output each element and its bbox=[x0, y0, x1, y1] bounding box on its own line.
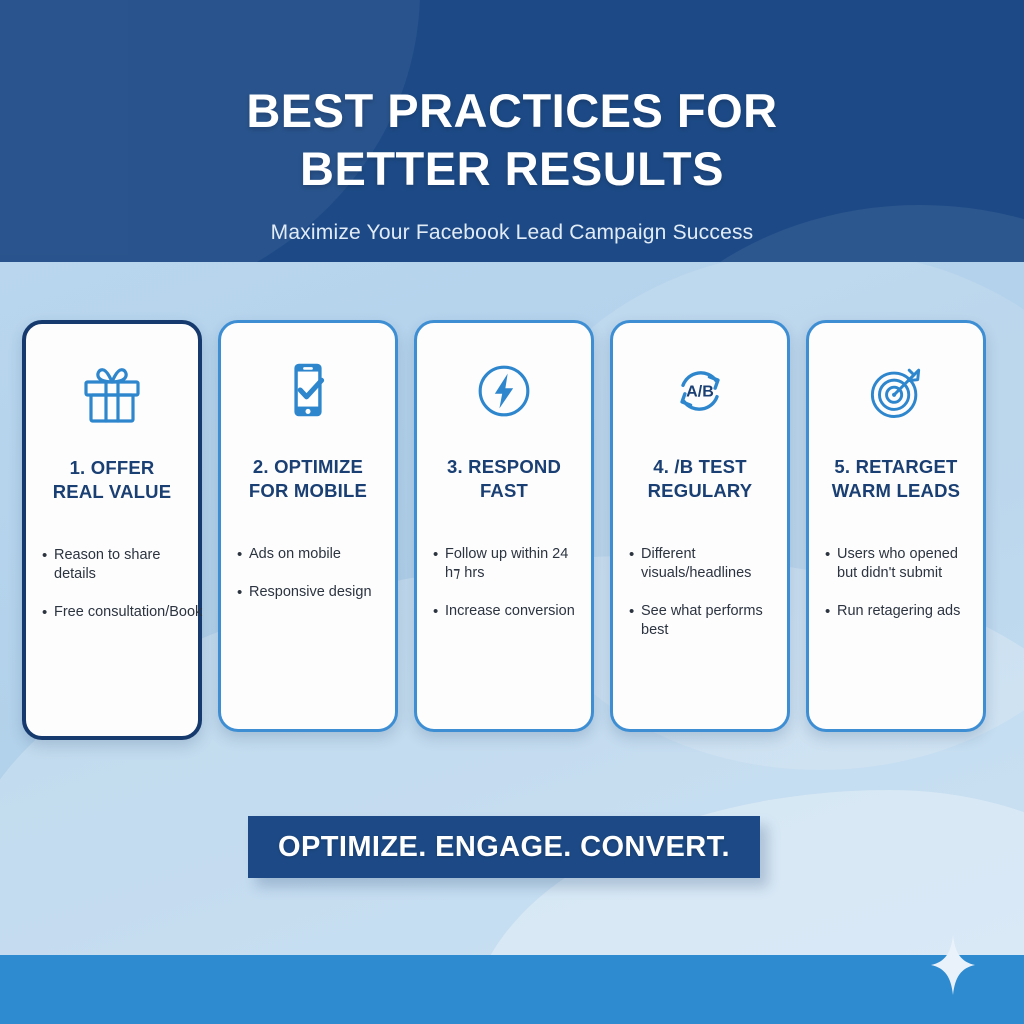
page-title-line2: BETTER RESULTS bbox=[246, 140, 777, 198]
bullet-dot: • bbox=[42, 546, 54, 566]
infographic-poster: BEST PRACTICES FOR BETTER RESULTS Maximi… bbox=[0, 0, 1024, 1024]
card-bullet-list: • Ads on mobile • Responsive design bbox=[231, 545, 385, 620]
card-title-line2: REAL VALUE bbox=[53, 480, 172, 504]
card-title: 4. /B TEST REGULARY bbox=[648, 455, 753, 507]
card-bullet: • Free consultation/Book bbox=[42, 603, 186, 623]
card-bullet-list: • Users who opened but didn't submit • R… bbox=[819, 545, 973, 639]
card-title-line2: FAST bbox=[447, 479, 561, 503]
card-bullet: • Increase conversion bbox=[433, 602, 579, 622]
practice-card[interactable]: 3. RESPOND FAST • Follow up within 24 h⁊… bbox=[414, 320, 594, 732]
lightning-bolt-icon bbox=[471, 349, 537, 433]
header-banner: BEST PRACTICES FOR BETTER RESULTS Maximi… bbox=[0, 0, 1024, 262]
card-bullet-list: • Reason to share details • Free consult… bbox=[36, 546, 188, 640]
page-title: BEST PRACTICES FOR BETTER RESULTS bbox=[246, 82, 777, 199]
card-title-line1: 5. RETARGET bbox=[834, 456, 957, 477]
bullet-dot: • bbox=[629, 602, 641, 622]
card-title-line2: FOR MOBILE bbox=[249, 479, 367, 503]
page-subtitle: Maximize Your Facebook Lead Campaign Suc… bbox=[271, 221, 754, 245]
bullet-text: Increase conversion bbox=[445, 602, 579, 621]
practice-card-row: 1. OFFER REAL VALUE • Reason to share de… bbox=[22, 320, 1002, 740]
card-title: 5. RETARGET WARM LEADS bbox=[832, 455, 960, 507]
bullet-dot: • bbox=[825, 545, 837, 565]
card-title: 2. OPTIMIZE FOR MOBILE bbox=[249, 455, 367, 507]
bullet-text: Different visuals/headlines bbox=[641, 545, 775, 584]
practice-card[interactable]: 5. RETARGET WARM LEADS • Users who opene… bbox=[806, 320, 986, 732]
bullet-text: Users who opened but didn't submit bbox=[837, 545, 971, 584]
practice-card[interactable]: 2. OPTIMIZE FOR MOBILE • Ads on mobile •… bbox=[218, 320, 398, 732]
card-title-line2: WARM LEADS bbox=[832, 479, 960, 503]
target-dart-icon bbox=[862, 349, 930, 433]
card-title-line2: REGULARY bbox=[648, 479, 753, 503]
call-to-action-text: OPTIMIZE. ENGAGE. CONVERT. bbox=[278, 831, 730, 864]
card-title-line1: 3. RESPOND bbox=[447, 456, 561, 477]
gift-icon bbox=[76, 350, 148, 434]
call-to-action-banner: OPTIMIZE. ENGAGE. CONVERT. bbox=[248, 816, 760, 878]
card-bullet: • Different visuals/headlines bbox=[629, 545, 775, 584]
bullet-dot: • bbox=[629, 545, 641, 565]
card-title-line1: 1. OFFER bbox=[70, 457, 155, 478]
card-title: 1. OFFER REAL VALUE bbox=[53, 456, 172, 508]
bullet-dot: • bbox=[237, 583, 249, 603]
card-bullet-list: • Different visuals/headlines • See what… bbox=[623, 545, 777, 659]
card-title-line1: 4. /B TEST bbox=[653, 456, 747, 477]
card-bullet-list: • Follow up within 24 h⁊ hrs • Increase … bbox=[427, 545, 581, 639]
card-bullet: • Users who opened but didn't submit bbox=[825, 545, 971, 584]
mobile-check-icon bbox=[273, 349, 343, 433]
bullet-text: Free consultation/Book bbox=[54, 603, 202, 622]
ab-test-icon: A/B bbox=[666, 349, 734, 433]
bullet-text: Responsive design bbox=[249, 583, 383, 602]
svg-text:A/B: A/B bbox=[686, 383, 714, 401]
card-bullet: • Run retagering ads bbox=[825, 602, 971, 622]
card-bullet: • Reason to share details bbox=[42, 546, 186, 585]
bullet-dot: • bbox=[237, 545, 249, 565]
bullet-dot: • bbox=[42, 603, 54, 623]
bullet-dot: • bbox=[433, 545, 445, 565]
card-bullet: • Responsive design bbox=[237, 583, 383, 603]
bottom-color-band bbox=[0, 955, 1024, 1024]
bullet-text: Follow up within 24 h⁊ hrs bbox=[445, 545, 579, 584]
card-bullet: • See what performs best bbox=[629, 602, 775, 641]
bullet-text: See what performs best bbox=[641, 602, 775, 641]
sparkle-icon bbox=[931, 935, 975, 995]
bullet-dot: • bbox=[825, 602, 837, 622]
page-title-line1: BEST PRACTICES FOR bbox=[246, 84, 777, 137]
bullet-text: Ads on mobile bbox=[249, 545, 383, 564]
card-title: 3. RESPOND FAST bbox=[447, 455, 561, 507]
card-bullet: • Ads on mobile bbox=[237, 545, 383, 565]
bullet-dot: • bbox=[433, 602, 445, 622]
bullet-text: Reason to share details bbox=[54, 546, 186, 585]
practice-card[interactable]: A/B 4. /B TEST REGULARY • Different visu… bbox=[610, 320, 790, 732]
bullet-text: Run retagering ads bbox=[837, 602, 971, 621]
card-title-line1: 2. OPTIMIZE bbox=[253, 456, 363, 477]
card-bullet: • Follow up within 24 h⁊ hrs bbox=[433, 545, 579, 584]
practice-card[interactable]: 1. OFFER REAL VALUE • Reason to share de… bbox=[22, 320, 202, 740]
